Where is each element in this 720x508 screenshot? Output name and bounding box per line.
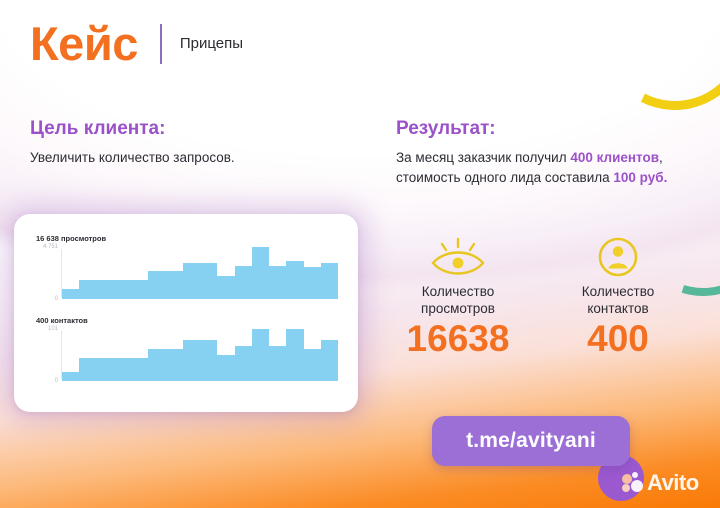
bar: [79, 280, 96, 299]
views-axis-tick-min: 0: [55, 296, 58, 302]
bar: [235, 346, 252, 381]
bar: [183, 340, 200, 381]
result-clients-highlight: 400 клиентов: [570, 150, 659, 165]
views-axis-rule: [61, 249, 62, 297]
contacts-chart-title: 400 контактов: [36, 316, 338, 325]
bar: [62, 372, 79, 381]
analytics-card: 16 638 просмотров 4 751 0 400 контактов …: [14, 214, 358, 412]
purple-arc-decoration: [607, 0, 720, 115]
bar: [321, 263, 338, 299]
bar: [235, 266, 252, 299]
contacts-axis-rule: [61, 331, 62, 379]
contacts-chart: 400 контактов 101 0: [36, 316, 338, 384]
result-line2-prefix: стоимость одного лида составила: [396, 170, 613, 185]
bar: [304, 349, 321, 381]
bar: [304, 267, 321, 299]
views-axis-tick-max: 4 751: [43, 244, 58, 250]
header: Кейс Прицепы: [30, 20, 243, 67]
page-subtitle: Прицепы: [180, 35, 243, 52]
stat-views: Количество просмотров 16638: [383, 236, 533, 359]
bar: [131, 280, 148, 299]
contacts-chart-bars: [62, 329, 338, 381]
pink-arc-decoration: [265, 0, 502, 85]
bar: [97, 280, 114, 299]
result-section: Результат: За месяц заказчик получил 400…: [396, 118, 706, 187]
bar: [252, 329, 269, 381]
bar: [148, 271, 165, 299]
bar: [166, 271, 183, 299]
bar: [183, 263, 200, 299]
avito-watermark: Avito: [622, 470, 699, 496]
stat-views-label-line2: просмотров: [421, 301, 495, 316]
telegram-link-label: t.me/avityani: [466, 429, 596, 453]
case-slide: Кейс Прицепы Цель клиента: Увеличить кол…: [0, 0, 720, 508]
goal-section: Цель клиента: Увеличить количество запро…: [30, 118, 360, 168]
contacts-axis-tick-max: 101: [48, 326, 58, 332]
result-text: За месяц заказчик получил 400 клиентов,с…: [396, 148, 706, 187]
bar: [166, 349, 183, 381]
avito-logo-icon: [622, 472, 644, 494]
contacts-axis-tick-min: 0: [55, 378, 58, 384]
bar: [200, 263, 217, 299]
bar: [269, 346, 286, 381]
bar: [217, 355, 234, 381]
result-line1-prefix: За месяц заказчик получил: [396, 150, 570, 165]
avito-wordmark: Avito: [647, 470, 699, 496]
bar: [200, 340, 217, 381]
contacts-chart-axis: 101 0: [36, 329, 62, 381]
bar: [131, 358, 148, 381]
stat-views-label-line1: Количество: [422, 284, 495, 299]
stat-contacts-label: Количество контактов: [543, 284, 693, 318]
stat-contacts-value: 400: [543, 320, 693, 359]
goal-text: Увеличить количество запросов.: [30, 148, 360, 168]
bar: [79, 358, 96, 381]
stat-contacts-label-line1: Количество: [582, 284, 655, 299]
stat-contacts: Количество контактов 400: [543, 236, 693, 359]
goal-heading: Цель клиента:: [30, 118, 360, 140]
stat-views-value: 16638: [383, 320, 533, 359]
bar: [62, 289, 79, 299]
result-line1-suffix: ,: [659, 150, 663, 165]
bar: [286, 261, 303, 299]
result-price-highlight: 100 руб.: [613, 170, 667, 185]
bar: [148, 349, 165, 381]
bar: [114, 358, 131, 381]
views-chart-axis: 4 751 0: [36, 247, 62, 299]
bar: [286, 329, 303, 381]
stat-contacts-label-line2: контактов: [587, 301, 648, 316]
page-title: Кейс: [30, 20, 138, 67]
views-chart-bars: [62, 247, 338, 299]
result-heading: Результат:: [396, 118, 706, 140]
bar: [269, 266, 286, 299]
views-chart: 16 638 просмотров 4 751 0: [36, 234, 338, 302]
person-icon: [543, 236, 693, 278]
eye-icon: [383, 236, 533, 278]
title-divider: [160, 24, 162, 64]
views-chart-title: 16 638 просмотров: [36, 234, 338, 243]
stat-views-label: Количество просмотров: [383, 284, 533, 318]
telegram-link-button[interactable]: t.me/avityani: [432, 416, 630, 466]
bar: [97, 358, 114, 381]
bar: [217, 276, 234, 299]
yellow-ring-decoration: [580, 0, 720, 130]
bar: [321, 340, 338, 381]
bar: [252, 247, 269, 299]
bar: [114, 280, 131, 299]
